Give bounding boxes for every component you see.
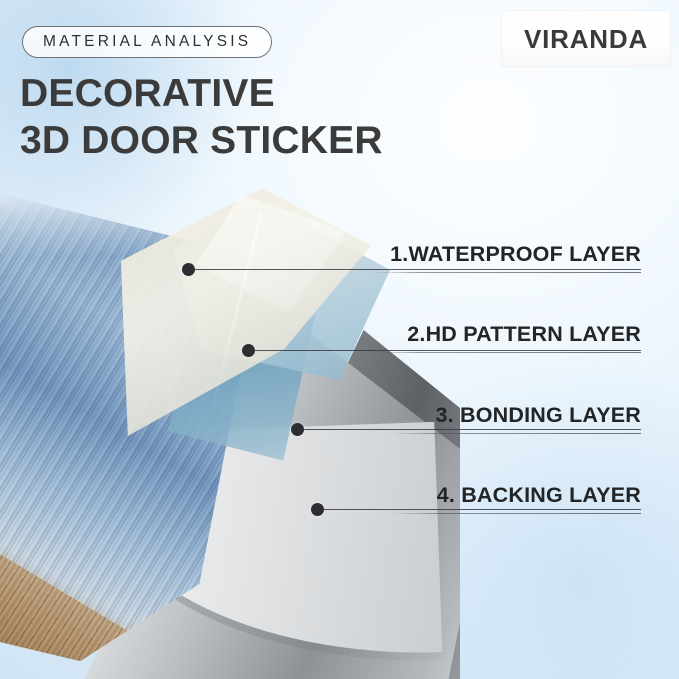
callout-rule-3 [391,433,641,434]
callout-leader-4 [323,509,641,510]
callout-rule-1 [371,272,641,273]
callout-leader-1 [194,269,641,270]
material-analysis-infographic: MATERIAL ANALYSIS DECORATIVE 3D DOOR STI… [0,0,679,679]
callout-leader-3 [303,429,641,430]
callout-label-2: 2.HD PATTERN LAYER [407,322,641,347]
callout-rule-4 [391,513,641,514]
callout-label-1: 1.WATERPROOF LAYER [390,242,641,267]
callout-leader-2 [254,350,641,351]
callout-rule-2 [371,352,641,353]
callout-group: 1.WATERPROOF LAYER 2.HD PATTERN LAYER 3.… [0,0,679,679]
callout-label-4: 4. BACKING LAYER [437,483,641,508]
callout-label-3: 3. BONDING LAYER [436,403,642,428]
